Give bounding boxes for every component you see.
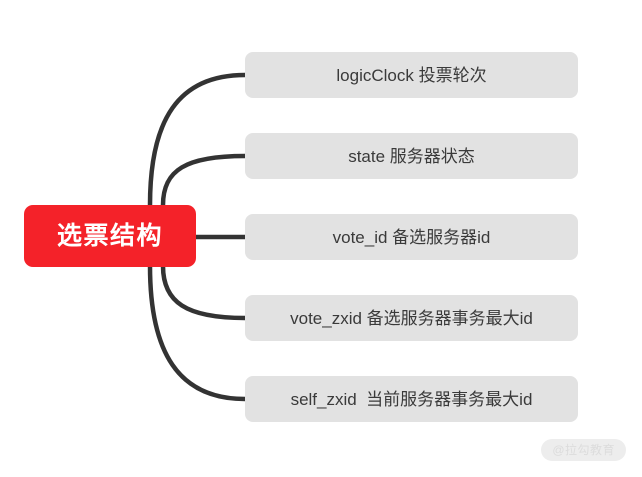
branch-node-vote-zxid[interactable]: vote_zxid 备选服务器事务最大id bbox=[245, 295, 578, 341]
watermark-label: @拉勾教育 bbox=[552, 444, 615, 456]
branch-node-logicclock[interactable]: logicClock 投票轮次 bbox=[245, 52, 578, 98]
branch-node-label: logicClock 投票轮次 bbox=[336, 67, 486, 84]
branch-node-state[interactable]: state 服务器状态 bbox=[245, 133, 578, 179]
branch-node-label: vote_zxid 备选服务器事务最大id bbox=[290, 310, 533, 327]
connector-to-branch-4 bbox=[150, 266, 245, 399]
branch-node-label: state 服务器状态 bbox=[348, 148, 475, 165]
mindmap-canvas: 选票结构 logicClock 投票轮次 state 服务器状态 vote_id… bbox=[0, 0, 642, 477]
watermark: @拉勾教育 bbox=[541, 439, 626, 461]
root-node-label: 选票结构 bbox=[57, 224, 163, 249]
branch-node-self-zxid[interactable]: self_zxid 当前服务器事务最大id bbox=[245, 376, 578, 422]
branch-node-label: vote_id 备选服务器id bbox=[333, 229, 491, 246]
connector-to-branch-3 bbox=[163, 266, 245, 318]
root-node[interactable]: 选票结构 bbox=[24, 205, 196, 267]
branch-node-vote-id[interactable]: vote_id 备选服务器id bbox=[245, 214, 578, 260]
connector-to-branch-1 bbox=[163, 156, 245, 205]
connector-to-branch-0 bbox=[150, 75, 245, 205]
branch-node-label: self_zxid 当前服务器事务最大id bbox=[291, 391, 533, 408]
